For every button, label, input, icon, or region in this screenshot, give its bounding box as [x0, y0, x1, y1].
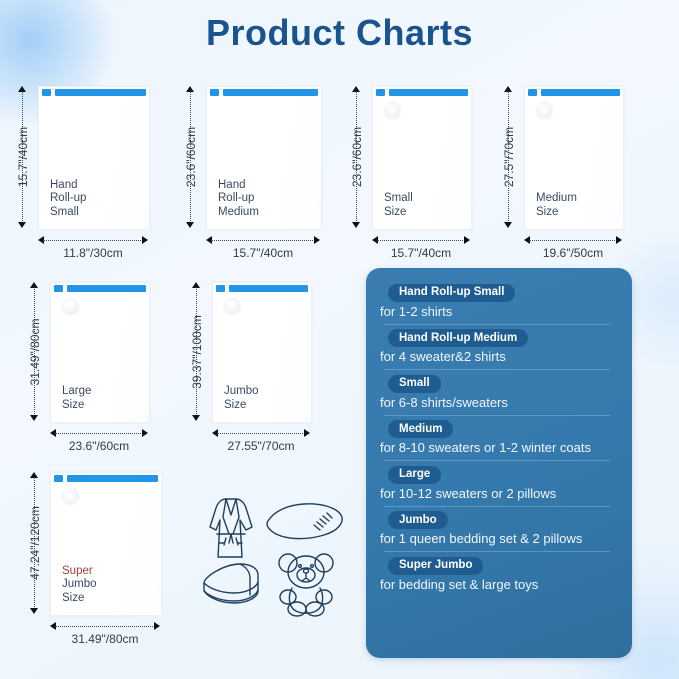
- bag-figure-jumbo-size: Jumbo Size 39.37"/100cm 27.55"/70cm: [212, 282, 312, 447]
- bag-label: Jumbo Size: [224, 385, 259, 412]
- bag-label-line: Medium: [218, 206, 259, 220]
- width-measure: 27.55"/70cm: [212, 429, 310, 438]
- legend-description: for 10-12 sweaters or 2 pillows: [380, 486, 618, 501]
- bag-label-line: Jumbo: [62, 578, 97, 592]
- bag-figure-hand-roll-up-medium: Hand Roll-up Medium 23.6"/60cm 15.7"/40c…: [206, 86, 322, 254]
- bag-label-line: Size: [62, 399, 91, 413]
- bag-label-line: Size: [62, 592, 97, 606]
- width-label: 11.8"/30cm: [63, 246, 122, 260]
- zipper-bar-icon: [541, 89, 620, 96]
- arrow-right-icon: [304, 429, 310, 437]
- width-label: 15.7"/40cm: [391, 246, 451, 260]
- measure-line: [43, 240, 143, 241]
- bag-label: Large Size: [62, 385, 91, 412]
- legend-item-hand-roll-up-medium: Hand Roll-up Medium for 4 sweater&2 shir…: [366, 324, 632, 370]
- bag-label-line: Hand: [218, 179, 259, 193]
- air-valve-icon: [537, 103, 552, 118]
- page-title: Product Charts: [0, 12, 679, 54]
- zipper-tab-icon: [216, 285, 225, 292]
- width-label: 19.6"/50cm: [543, 246, 603, 260]
- legend-description: for 4 sweater&2 shirts: [380, 349, 618, 364]
- legend-item-super-jumbo: Super Jumbo for bedding set & large toys: [366, 551, 632, 597]
- zipper-bar-icon: [223, 89, 318, 96]
- bag-label-line: Medium: [536, 192, 577, 206]
- arrow-down-icon: [18, 222, 26, 228]
- arrow-right-icon: [314, 236, 320, 244]
- zipper-bar-icon: [67, 475, 158, 482]
- measure-line: [377, 240, 465, 241]
- air-valve-icon: [63, 299, 78, 314]
- legend-pill-label: Medium: [388, 420, 453, 438]
- height-label: 23.6"/60cm: [184, 127, 198, 187]
- zipper-bar-icon: [389, 89, 468, 96]
- size-guide-panel: Hand Roll-up Small for 1-2 shirts Hand R…: [366, 268, 632, 658]
- width-measure: 15.7"/40cm: [206, 236, 320, 245]
- legend-description: for bedding set & large toys: [380, 577, 618, 592]
- bag-figure-small-size: Small Size 23.6"/60cm 15.7"/40cm: [372, 86, 472, 254]
- width-measure: 23.6"/60cm: [50, 429, 148, 438]
- pillow-icon: [267, 504, 342, 539]
- width-measure: 19.6"/50cm: [524, 236, 622, 245]
- height-label: 27.5"/70cm: [502, 127, 516, 187]
- arrow-down-icon: [352, 222, 360, 228]
- width-label: 15.7"/40cm: [233, 246, 293, 260]
- measure-line: [211, 240, 315, 241]
- folded-blanket-icon: [204, 564, 258, 603]
- height-measure: 39.37"/100cm: [192, 282, 201, 421]
- legend-pill-label: Large: [388, 466, 441, 484]
- height-label: 23.6"/60cm: [350, 127, 364, 187]
- bag-body: Hand Roll-up Small: [38, 86, 150, 230]
- bag-body: Super Jumbo Size: [50, 472, 162, 616]
- legend-pill-label: Super Jumbo: [388, 557, 483, 575]
- legend-item-small: Small for 6-8 shirts/sweaters: [366, 369, 632, 415]
- height-measure: 27.5"/70cm: [504, 86, 513, 228]
- bag-figure-medium-size: Medium Size 27.5"/70cm 19.6"/50cm: [524, 86, 624, 254]
- bag-body: Small Size: [372, 86, 472, 230]
- bag-figure-super-jumbo-size: Super Jumbo Size 47.24"/120cm 31.49"/80c…: [50, 472, 162, 640]
- arrow-down-icon: [30, 415, 38, 421]
- measure-line: [55, 433, 143, 434]
- item-illustrations: [196, 487, 346, 617]
- zipper-tab-icon: [42, 89, 51, 96]
- bag-label: Medium Size: [536, 192, 577, 219]
- bag-label: Hand Roll-up Medium: [218, 179, 259, 220]
- height-measure: 15.7"/40cm: [18, 86, 27, 228]
- arrow-down-icon: [504, 222, 512, 228]
- legend-item-large: Large for 10-12 sweaters or 2 pillows: [366, 460, 632, 506]
- measure-line: [217, 433, 305, 434]
- measure-line: [55, 626, 155, 627]
- height-label: 47.24"/120cm: [28, 506, 42, 580]
- legend-item-hand-roll-up-small: Hand Roll-up Small for 1-2 shirts: [366, 278, 632, 324]
- zipper-tab-icon: [376, 89, 385, 96]
- bag-figure-hand-roll-up-small: Hand Roll-up Small 15.7"/40cm 11.8"/30cm: [38, 86, 150, 254]
- air-valve-icon: [385, 103, 400, 118]
- arrow-down-icon: [30, 608, 38, 614]
- teddy-bear-icon: [279, 554, 333, 616]
- bag-body: Jumbo Size: [212, 282, 312, 423]
- legend-item-jumbo: Jumbo for 1 queen bedding set & 2 pillow…: [366, 506, 632, 552]
- bag-label-line: Small: [384, 192, 413, 206]
- arrow-right-icon: [464, 236, 470, 244]
- legend-description: for 8-10 sweaters or 1-2 winter coats: [380, 440, 618, 455]
- bag-label-line: Large: [62, 385, 91, 399]
- zipper-bar-icon: [229, 285, 308, 292]
- legend-pill-label: Hand Roll-up Medium: [388, 329, 528, 347]
- bag-body: Medium Size: [524, 86, 624, 230]
- width-label: 31.49"/80cm: [72, 632, 139, 646]
- legend-description: for 1-2 shirts: [380, 304, 618, 319]
- height-measure: 23.6"/60cm: [352, 86, 361, 228]
- bag-label-line: Size: [384, 206, 413, 220]
- arrow-right-icon: [142, 429, 148, 437]
- legend-pill-label: Hand Roll-up Small: [388, 284, 515, 302]
- height-label: 39.37"/100cm: [190, 315, 204, 389]
- height-measure: 23.6"/60cm: [186, 86, 195, 228]
- legend-description: for 6-8 shirts/sweaters: [380, 395, 618, 410]
- zipper-bar-icon: [55, 89, 146, 96]
- bag-body: Hand Roll-up Medium: [206, 86, 322, 230]
- bag-label-line: Jumbo: [224, 385, 259, 399]
- bag-label-line: Roll-up: [50, 192, 86, 206]
- bag-label-line: Roll-up: [218, 192, 259, 206]
- legend-description: for 1 queen bedding set & 2 pillows: [380, 531, 618, 546]
- height-label: 31.49"/80cm: [28, 318, 42, 385]
- legend-pill-label: Small: [388, 375, 441, 393]
- bag-label-line: Size: [224, 399, 259, 413]
- zipper-bar-icon: [67, 285, 146, 292]
- bag-label-line: Hand: [50, 179, 86, 193]
- width-measure: 11.8"/30cm: [38, 236, 148, 245]
- arrow-right-icon: [154, 622, 160, 630]
- arrow-down-icon: [186, 222, 194, 228]
- bag-label: Hand Roll-up Small: [50, 179, 86, 220]
- height-label: 15.7"/40cm: [16, 127, 30, 187]
- width-label: 27.55"/70cm: [228, 439, 295, 453]
- zipper-tab-icon: [54, 285, 63, 292]
- bag-label-line: Size: [536, 206, 577, 220]
- bag-label-line: Small: [50, 206, 86, 220]
- width-label: 23.6"/60cm: [69, 439, 129, 453]
- bag-label: Super Jumbo Size: [62, 565, 97, 606]
- measure-line: [529, 240, 617, 241]
- air-valve-icon: [225, 299, 240, 314]
- bag-label-line: Super: [62, 565, 97, 579]
- width-measure: 31.49"/80cm: [50, 622, 160, 631]
- product-charts-page: Product Charts Hand Roll-up Small 15.7"/…: [0, 0, 679, 679]
- bag-body: Large Size: [50, 282, 150, 423]
- bag-label: Small Size: [384, 192, 413, 219]
- bathrobe-icon: [210, 499, 252, 557]
- zipper-tab-icon: [528, 89, 537, 96]
- air-valve-icon: [63, 489, 78, 504]
- arrow-down-icon: [192, 415, 200, 421]
- height-measure: 47.24"/120cm: [30, 472, 39, 614]
- legend-item-medium: Medium for 8-10 sweaters or 1-2 winter c…: [366, 415, 632, 461]
- legend-pill-label: Jumbo: [388, 511, 448, 529]
- arrow-right-icon: [142, 236, 148, 244]
- height-measure: 31.49"/80cm: [30, 282, 39, 421]
- bag-figure-large-size: Large Size 31.49"/80cm 23.6"/60cm: [50, 282, 150, 447]
- zipper-tab-icon: [210, 89, 219, 96]
- width-measure: 15.7"/40cm: [372, 236, 470, 245]
- zipper-tab-icon: [54, 475, 63, 482]
- arrow-right-icon: [616, 236, 622, 244]
